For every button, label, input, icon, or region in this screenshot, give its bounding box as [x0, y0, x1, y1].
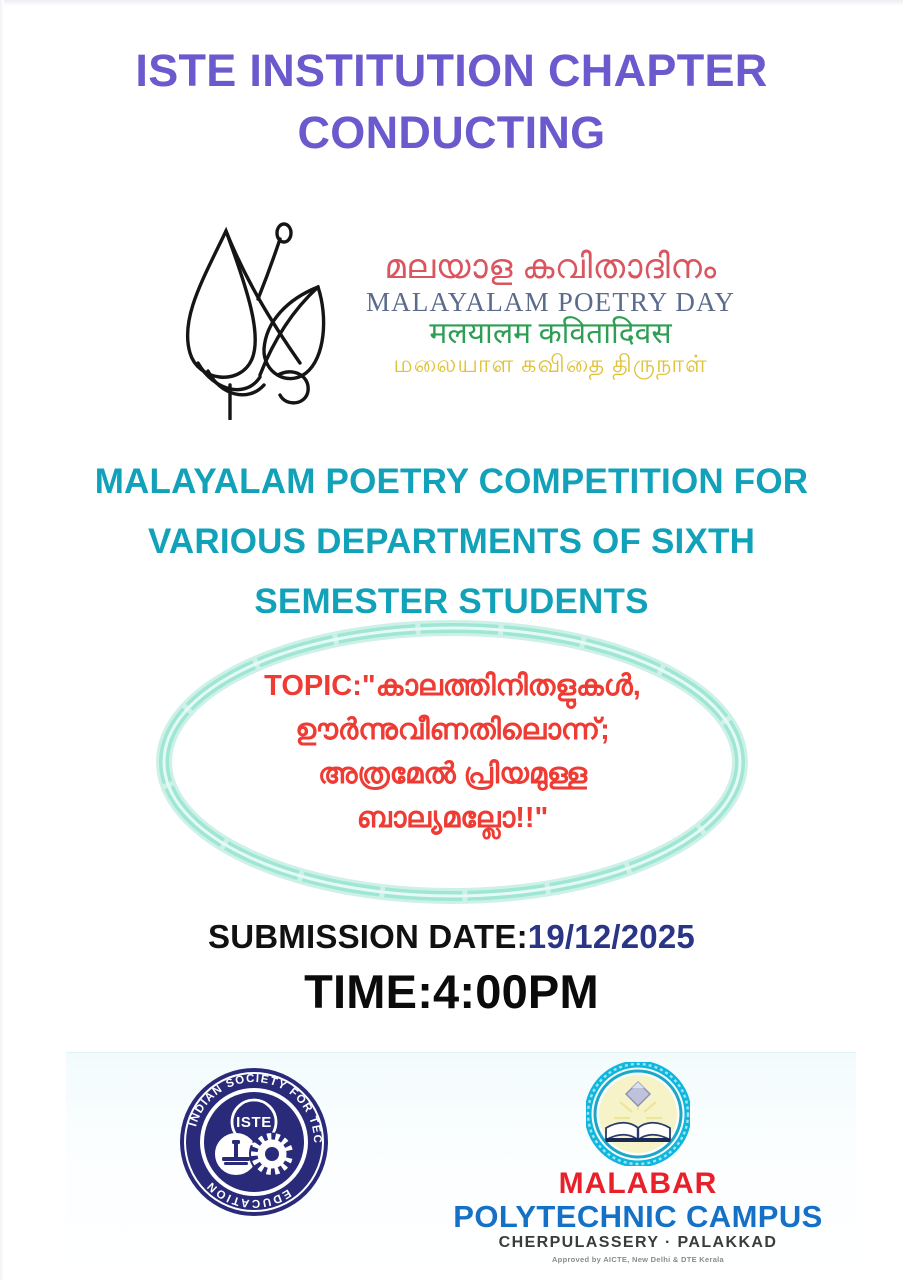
malabar-polytechnic-logo: MALABAR POLYTECHNIC CAMPUS CHERPULASSERY…	[438, 1062, 838, 1264]
institute-name-top: MALABAR	[438, 1168, 838, 1200]
logo-title-malayalam: മലയാള കവിതാദിനം	[366, 251, 735, 285]
headline-line-1: ISTE INSTITUTION CHAPTER	[0, 40, 903, 102]
topic-line-2: ഊർന്നുവീണതിലൊന്ന്;	[195, 708, 710, 752]
institute-location: CHERPULASSERY · PALAKKAD	[438, 1234, 838, 1252]
submission-date-label: SUBMISSION DATE:	[208, 918, 528, 955]
iste-logo-icon: INDIAN SOCIETY FOR TECHNICAL EDUCATION I…	[178, 1066, 330, 1218]
headline-line-2: CONDUCTING	[0, 102, 903, 164]
scan-top-edge	[0, 0, 903, 6]
institute-name-bottom: POLYTECHNIC CAMPUS	[438, 1200, 838, 1233]
subtitle-line-1: MALAYALAM POETRY COMPETITION FOR	[0, 452, 903, 512]
submission-date-value: 19/12/2025	[528, 918, 695, 955]
poetry-day-flower-icon	[168, 195, 358, 420]
submission-time-line: TIME:4:00PM	[0, 964, 903, 1019]
malayalam-poetry-day-logo: മലയാള കവിതാദിനം MALAYALAM POETRY DAY मलय…	[0, 192, 903, 422]
poster-subtitle: MALAYALAM POETRY COMPETITION FOR VARIOUS…	[0, 452, 903, 633]
topic-line-3: അത്രമേൽ പ്രിയമുള്ള	[195, 752, 710, 796]
subtitle-line-2: VARIOUS DEPARTMENTS OF SIXTH	[0, 512, 903, 572]
topic-text-block: TOPIC:"കാലത്തിനിതളുകൾ, ഊർന്നുവീണതിലൊന്ന്…	[195, 664, 710, 840]
poetry-day-wordmark: മലയാള കവിതാദിനം MALAYALAM POETRY DAY मलय…	[366, 251, 735, 377]
logo-title-hindi: मलयालम कवितादिवस	[366, 319, 735, 349]
poster-headline: ISTE INSTITUTION CHAPTER CONDUCTING	[0, 40, 903, 164]
poster-canvas: ISTE INSTITUTION CHAPTER CONDUCTING	[0, 0, 903, 1280]
logo-title-tamil: மலையாள கவிதை திருநாள்	[366, 353, 735, 377]
logo-title-english: MALAYALAM POETRY DAY	[366, 289, 735, 316]
topic-line-1: TOPIC:"കാലത്തിനിതളുകൾ,	[195, 664, 710, 708]
svg-text:ISTE: ISTE	[236, 1114, 272, 1131]
topic-line-4: ബാല്യമല്ലോ!!"	[195, 796, 710, 840]
malabar-emblem-icon	[586, 1062, 690, 1166]
topic-callout: TOPIC:"കാലത്തിനിതളുകൾ, ഊർന്നുവീണതിലൊന്ന്…	[145, 612, 760, 912]
institute-approval-note: Approved by AICTE, New Delhi & DTE Keral…	[438, 1255, 838, 1264]
submission-date-line: SUBMISSION DATE:19/12/2025	[0, 918, 903, 956]
